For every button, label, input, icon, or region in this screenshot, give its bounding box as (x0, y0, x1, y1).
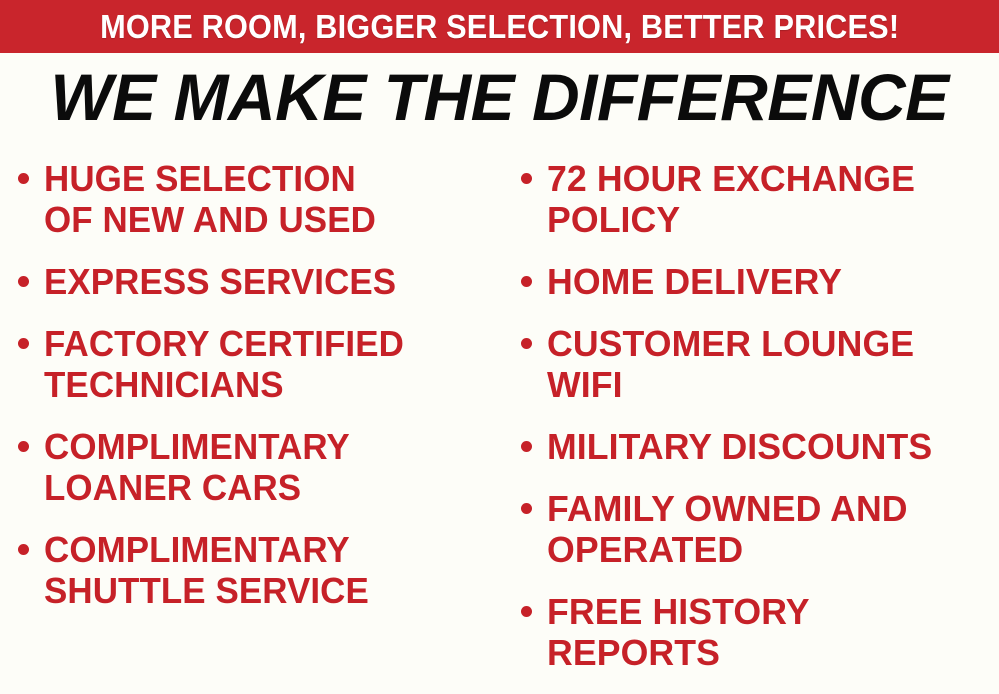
promo-banner-text: MORE ROOM, BIGGER SELECTION, BETTER PRIC… (100, 10, 899, 43)
bullet-dot-icon (18, 338, 29, 349)
list-item-label: FREE HISTORY REPORTS (547, 591, 994, 673)
benefits-column-left: HUGE SELECTION OF NEW AND USED EXPRESS S… (0, 158, 505, 632)
bullet-dot-icon (18, 441, 29, 452)
list-item: COMPLIMENTARY SHUTTLE SERVICE (18, 529, 505, 611)
bullet-dot-icon (18, 276, 29, 287)
list-item: HOME DELIVERY (521, 261, 999, 302)
list-item: CUSTOMER LOUNGE WIFI (521, 323, 999, 405)
list-item: EXPRESS SERVICES (18, 261, 505, 302)
list-item: COMPLIMENTARY LOANER CARS (18, 426, 505, 508)
list-item: HUGE SELECTION OF NEW AND USED (18, 158, 505, 240)
benefits-column-right: 72 HOUR EXCHANGE POLICY HOME DELIVERY CU… (505, 158, 999, 694)
bullet-dot-icon (521, 503, 532, 514)
list-item: FAMILY OWNED AND OPERATED (521, 488, 999, 570)
list-item-label: FAMILY OWNED AND OPERATED (547, 488, 994, 570)
page-title: WE MAKE THE DIFFERENCE (0, 61, 999, 133)
list-item: FACTORY CERTIFIED TECHNICIANS (18, 323, 505, 405)
bullet-dot-icon (521, 441, 532, 452)
advertisement-banner: MORE ROOM, BIGGER SELECTION, BETTER PRIC… (0, 0, 999, 692)
list-item-label: CUSTOMER LOUNGE WIFI (547, 323, 994, 405)
list-item: 72 HOUR EXCHANGE POLICY (521, 158, 999, 240)
list-item-label: HOME DELIVERY (547, 261, 994, 302)
bullet-dot-icon (521, 606, 532, 617)
bullet-dot-icon (521, 173, 532, 184)
bullet-dot-icon (18, 173, 29, 184)
list-item-label: 72 HOUR EXCHANGE POLICY (547, 158, 994, 240)
list-item-label: COMPLIMENTARY LOANER CARS (44, 426, 491, 508)
list-item: MILITARY DISCOUNTS (521, 426, 999, 467)
list-item: FREE HISTORY REPORTS (521, 591, 999, 673)
list-item-label: MILITARY DISCOUNTS (547, 426, 994, 467)
promo-banner: MORE ROOM, BIGGER SELECTION, BETTER PRIC… (0, 0, 999, 53)
bullet-dot-icon (521, 338, 532, 349)
list-item-label: EXPRESS SERVICES (44, 261, 491, 302)
list-item-label: HUGE SELECTION OF NEW AND USED (44, 158, 491, 240)
benefits-columns: HUGE SELECTION OF NEW AND USED EXPRESS S… (0, 158, 999, 692)
bullet-dot-icon (521, 276, 532, 287)
list-item-label: FACTORY CERTIFIED TECHNICIANS (44, 323, 491, 405)
bullet-dot-icon (18, 544, 29, 555)
list-item-label: COMPLIMENTARY SHUTTLE SERVICE (44, 529, 491, 611)
